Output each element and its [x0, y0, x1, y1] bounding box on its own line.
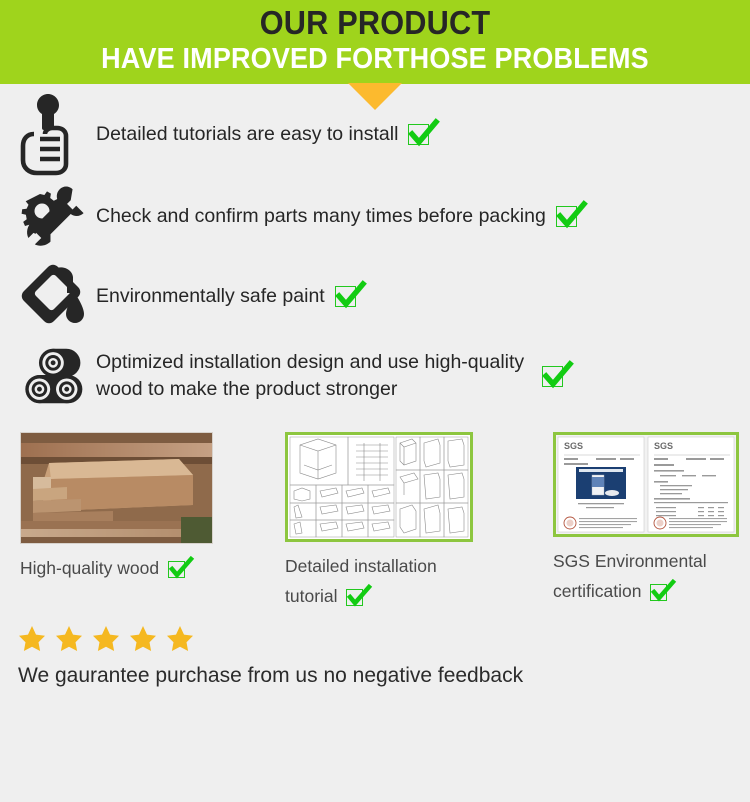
green-check-icon: [346, 586, 368, 608]
sgs-logo-right: SGS: [654, 441, 673, 451]
star-icon: [129, 625, 157, 657]
star-icon: [18, 625, 46, 657]
feature-label: Environmentally safe paint: [96, 283, 325, 310]
feature-label-line1: Optimized installation design and use hi…: [96, 349, 524, 376]
card-caption-text: High-quality wood: [20, 558, 159, 578]
green-check-icon: [556, 203, 582, 229]
feature-list: Detailed tutorials are easy to install: [0, 84, 750, 416]
assembly-diagram-photo[interactable]: [285, 432, 473, 542]
card-gallery: High-quality wood: [0, 422, 750, 611]
guarantee-text: We gaurantee purchase from us no negativ…: [0, 657, 750, 691]
sgs-logo-left: SGS: [564, 441, 583, 451]
feature-row: Check and confirm parts many times befor…: [0, 176, 750, 256]
header-banner: OUR PRODUCT HAVE IMPROVED FORTHOSE PROBL…: [0, 0, 750, 84]
star-icon: [92, 625, 120, 657]
sgs-report-photo[interactable]: SGS SGS: [553, 432, 739, 537]
star-icon: [166, 625, 194, 657]
gear-wrench-icon: [18, 180, 96, 252]
hand-holding-wrench-icon: [18, 92, 96, 176]
card-caption: High-quality wood: [20, 544, 205, 583]
card-caption: Detailed installation tutorial: [285, 542, 470, 611]
feature-label-line2: wood to make the product stronger: [96, 376, 524, 403]
page-subtitle: HAVE IMPROVED FORTHOSE PROBLEMS: [26, 42, 724, 76]
feature-row: Optimized installation design and use hi…: [0, 336, 750, 416]
card-caption-line1: Detailed installation: [285, 551, 470, 581]
feature-label: Detailed tutorials are easy to install: [96, 121, 398, 148]
green-check-icon: [650, 581, 672, 603]
card-installation-tutorial: Detailed installation tutorial: [285, 432, 553, 611]
card-high-quality-wood: High-quality wood: [0, 432, 285, 611]
wood-planks-photo[interactable]: [20, 432, 213, 544]
triangle-down-icon: [348, 83, 402, 110]
card-caption-line2: certification: [553, 581, 642, 601]
card-sgs-certification: SGS SGS: [553, 432, 750, 611]
feature-label: Optimized installation design and use hi…: [96, 349, 524, 403]
green-check-icon: [542, 363, 568, 389]
stacked-logs-icon: [18, 345, 96, 407]
green-check-icon: [408, 121, 434, 147]
card-caption-line1: SGS Environmental: [553, 546, 738, 576]
feature-row: Environmentally safe paint: [0, 256, 750, 336]
paint-bucket-icon: [18, 263, 96, 329]
rating-stars: [0, 611, 750, 657]
page-title: OUR PRODUCT: [26, 4, 724, 42]
card-caption: SGS Environmental certification: [553, 537, 738, 606]
green-check-icon: [168, 558, 190, 580]
star-icon: [55, 625, 83, 657]
feature-label: Check and confirm parts many times befor…: [96, 203, 546, 230]
green-check-icon: [335, 283, 361, 309]
card-caption-line2: tutorial: [285, 586, 338, 606]
